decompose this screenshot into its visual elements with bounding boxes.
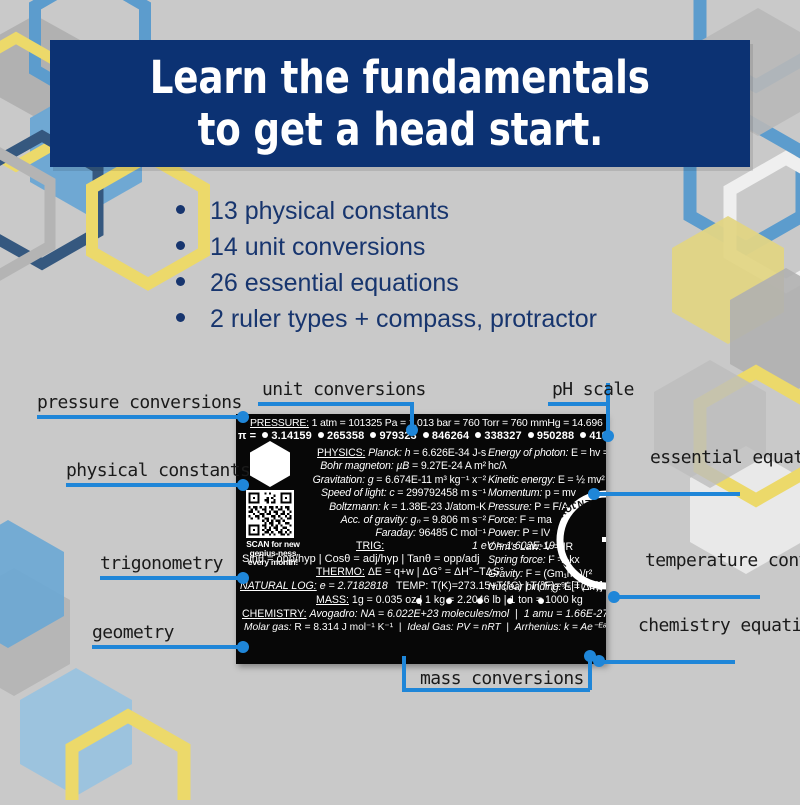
molar-gas-value: R = 8.314 J mol⁻¹ K⁻¹	[294, 622, 393, 633]
physics-heading: PHYSICS:	[317, 447, 365, 459]
pi-digit: 950288	[537, 430, 574, 442]
infographic-canvas: Learn the fundamentals to get a head sta…	[0, 0, 800, 800]
constant-symbol: µB	[396, 460, 409, 472]
bullet-label: 14 unit conversions	[210, 232, 425, 262]
feature-bullet-list: 13 physical constants 14 unit conversion…	[176, 196, 597, 340]
card-thermo-row: THERMO: ΔE = q+w | ΔG° = ΔH°−TΔS°	[316, 566, 504, 578]
pi-digit: 846264	[432, 430, 469, 442]
list-item: 13 physical constants	[176, 196, 597, 226]
ph-scale-dot-icon	[416, 598, 422, 604]
equation-name: Momentum:	[488, 487, 542, 499]
chemistry-heading: CHEMISTRY:	[242, 608, 307, 620]
pi-digit: 979323	[379, 430, 416, 442]
bullet-dot-icon	[176, 313, 185, 322]
card-pi-digits-row: π = 3.14159 265358 979323 846264 338327 …	[238, 430, 606, 442]
ph-scale-dot-icon	[538, 598, 544, 604]
constant-name: Speed of light:	[321, 487, 386, 499]
card-pressure-row: PRESSURE: 1 atm = 101325 Pa = 1.013 bar …	[250, 417, 606, 429]
card-natural-log-row: NATURAL LOG: e = 2.7182818	[240, 580, 388, 592]
physics-row: Bohr magneton: µB = 9.27E-24 A m²	[296, 460, 486, 473]
annotation-ph-scale: pH scale	[552, 379, 634, 401]
ph-scale-dot-icon	[580, 432, 586, 438]
constant-value: = 9.27E-24 A m²	[412, 460, 486, 472]
ph-scale-dot-icon	[475, 432, 481, 438]
card-trig-heading-row: TRIG:	[356, 540, 384, 552]
annotation-mass-conversions: mass conversions	[420, 668, 584, 690]
trig-identities: Sinθ = opp/hyp | Cosθ = adj/hyp | Tanθ =…	[242, 553, 480, 565]
hexagon-logo-icon	[248, 440, 292, 488]
equation-value: E = ½ mv²	[558, 474, 605, 486]
ph-scale-dot-icon	[318, 432, 324, 438]
arrhenius-equation: Arrhenius: k = Ae⁻ᴱᵃᐟᴿᵀ	[515, 622, 606, 633]
constant-name: Gravitation:	[313, 474, 365, 486]
pi-digit: 338327	[484, 430, 521, 442]
constant-symbol: gₙ	[411, 514, 421, 526]
annotation-temperature-conversions: temperature conversions	[645, 550, 800, 572]
equation-name: Kinetic energy:	[488, 474, 555, 486]
annotation-trigonometry: trigonometry	[100, 553, 223, 575]
bullet-dot-icon	[176, 241, 185, 250]
headline-line-2: to get a head start.	[197, 104, 602, 156]
thermo-heading: THERMO:	[316, 566, 365, 578]
bullet-label: 13 physical constants	[210, 196, 449, 226]
constant-name: Bohr magneton:	[320, 460, 393, 472]
ideal-separator: |	[504, 622, 512, 633]
constant-name: Faraday:	[375, 527, 416, 539]
equation-name: Force:	[488, 514, 517, 526]
ideal-gas-law: Ideal Gas: PV = nRT	[407, 622, 501, 633]
constant-value: = 6.674E-11 m³ kg⁻¹ x⁻²	[376, 474, 486, 486]
chemistry-value-a: Avogadro: NA = 6.022E+23 molecules/mol	[310, 608, 510, 620]
card-chemistry-row: CHEMISTRY: Avogadro: NA = 6.022E+23 mole…	[242, 608, 606, 620]
equation-name: Pressure:	[488, 501, 532, 513]
bullet-label: 26 essential equations	[210, 268, 459, 298]
ph-scale-dot-icon	[477, 598, 483, 604]
card-temperature-row: TEMP: T(K)=273.15+T(°C) | T(°F)=⁹⁄₅[T(°C…	[396, 580, 606, 592]
molar-gas-heading: Molar gas:	[244, 622, 292, 633]
ph-scale-dot-icon	[262, 432, 268, 438]
qr-code-icon[interactable]	[246, 490, 294, 538]
bullet-dot-icon	[176, 277, 185, 286]
physics-constants-block: PHYSICS: Planck: h = 6.626E-34 J-s Bohr …	[296, 447, 486, 541]
pressure-heading: PRESSURE:	[250, 417, 309, 429]
bullet-label: 2 ruler types + compass, protractor	[210, 304, 597, 334]
temp-heading: TEMP:	[396, 580, 428, 592]
bullet-dot-icon	[176, 205, 185, 214]
constant-value: = 1.38E-23 J/atom-K	[391, 501, 486, 513]
equation-name: Energy of photon:	[488, 447, 568, 459]
card-trig-identities-row: Sinθ = opp/hyp | Cosθ = adj/hyp | Tanθ =…	[242, 553, 480, 565]
thermo-value: ΔE = q+w | ΔG° = ΔH°−TΔS°	[368, 566, 504, 578]
reference-card: PRESSURE: 1 atm = 101325 Pa = 1.013 bar …	[236, 414, 606, 664]
constant-symbol: h	[405, 447, 411, 459]
equation-name: Power:	[488, 527, 520, 539]
constant-value: = 6.626E-34 J-s	[413, 447, 486, 459]
list-item: 14 unit conversions	[176, 232, 597, 262]
physics-row: Acc. of gravity: gₙ = 9.806 m s⁻²	[296, 514, 486, 527]
ph-scale-dot-icon	[446, 598, 452, 604]
constant-value: 96485 C mol⁻¹	[419, 527, 486, 539]
ph-scale-dot-icon	[423, 432, 429, 438]
pressure-value: 1 atm = 101325 Pa = 1.013 bar = 760 Torr…	[312, 417, 606, 429]
constant-value: = 299792458 m s⁻¹	[397, 487, 486, 499]
physics-row: Boltzmann: k = 1.38E-23 J/atom-K	[296, 501, 486, 514]
constant-symbol: c	[389, 487, 394, 499]
annotation-pressure-conversions: pressure conversions	[37, 392, 242, 414]
constant-name: Planck:	[368, 447, 402, 459]
physics-row: PHYSICS: Planck: h = 6.626E-34 J-s	[296, 447, 486, 460]
ph-scale-dot-icon	[507, 598, 513, 604]
annotation-geometry: geometry	[92, 622, 174, 644]
natural-log-value: e = 2.7182818	[320, 580, 388, 592]
annotation-physical-constants: physical constants	[66, 460, 250, 482]
constant-symbol: g	[368, 474, 374, 486]
annotation-chemistry-equations: chemistry equations	[638, 615, 800, 637]
annotation-unit-conversions: unit conversions	[262, 379, 426, 401]
ev-value: 1 eV = 1.602E-19 J	[472, 540, 563, 552]
physics-row: Speed of light: c = 299792458 m s⁻¹	[296, 487, 486, 500]
constant-symbol: k	[383, 501, 388, 513]
ph-scale-dot-icon	[370, 432, 376, 438]
physics-row: Gravitation: g = 6.674E-11 m³ kg⁻¹ x⁻²	[296, 474, 486, 487]
ph-scale-dot-icon	[528, 432, 534, 438]
card-ev-row: 1 eV = 1.602E-19 J	[472, 540, 563, 552]
natural-log-heading: NATURAL LOG:	[240, 580, 317, 592]
pi-digit: 419716	[589, 430, 606, 442]
mass-heading: MASS:	[316, 594, 349, 606]
equation-name: Spring force:	[488, 554, 545, 566]
constant-name: Acc. of gravity:	[341, 514, 408, 526]
list-item: 26 essential equations	[176, 268, 597, 298]
headline-banner: Learn the fundamentals to get a head sta…	[50, 40, 750, 167]
constant-value: = 9.806 m s⁻²	[423, 514, 486, 526]
equation-row: Energy of photon: E = hv = hc/λ	[488, 447, 606, 474]
molar-separator: |	[396, 622, 404, 633]
trig-heading: TRIG:	[356, 540, 384, 552]
pi-digit: 265358	[327, 430, 364, 442]
headline-line-1: Learn the fundamentals	[150, 52, 650, 104]
card-molar-gas-row: Molar gas: R = 8.314 J mol⁻¹ K⁻¹ | Ideal…	[244, 622, 606, 633]
temp-value: T(K)=273.15+T(°C) | T(°F)=⁹⁄₅[T(°C)]+32	[431, 580, 606, 592]
constant-name: Boltzmann:	[329, 501, 381, 513]
chemistry-value-b: 1 amu = 1.66E-27 kg	[524, 608, 606, 620]
chem-separator: |	[512, 608, 521, 620]
list-item: 2 ruler types + compass, protractor	[176, 304, 597, 334]
annotation-essential-equations: essential equations	[650, 447, 800, 469]
physics-row: Faraday: 96485 C mol⁻¹	[296, 527, 486, 540]
